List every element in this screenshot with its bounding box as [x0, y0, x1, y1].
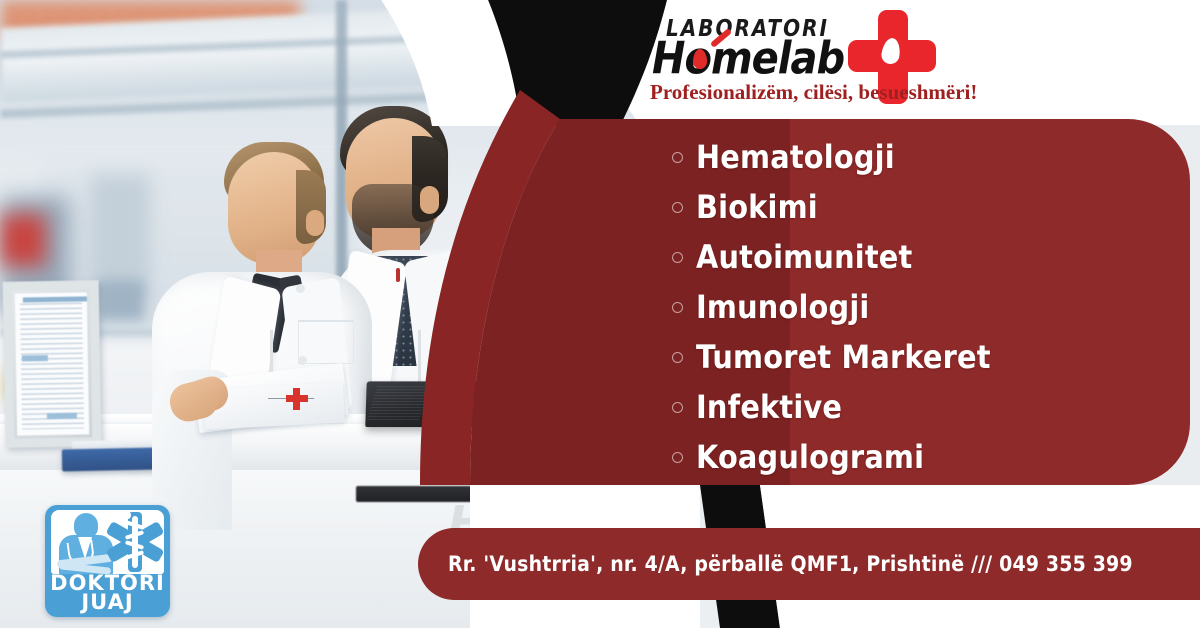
- person-a-ear: [306, 210, 324, 236]
- service-label: Hematologji: [696, 138, 895, 176]
- frame-highlight: [47, 413, 77, 420]
- list-item[interactable]: Hematologji: [672, 132, 1192, 182]
- bullet-icon: [672, 352, 683, 363]
- snake-head: [121, 511, 131, 519]
- person-b-ear: [420, 186, 439, 214]
- frame-highlight: [22, 355, 48, 361]
- document-cross-icon: [284, 388, 314, 410]
- service-label: Tumoret Markeret: [696, 338, 991, 376]
- person-a-coat-button: [296, 284, 305, 293]
- bullet-icon: [672, 402, 683, 413]
- dell-logo: DELL: [366, 391, 539, 413]
- glass-mullion: [520, 0, 529, 300]
- services-list: Hematologji Biokimi Autoimunitet Imunolo…: [672, 132, 1192, 482]
- bullet-icon: [672, 152, 683, 163]
- address-text: Rr. 'Vushtrria', nr. 4/A, përballë QMF1,…: [418, 552, 1133, 576]
- list-item[interactable]: Imunologji: [672, 282, 1192, 332]
- address-bar: Rr. 'Vushtrria', nr. 4/A, përballë QMF1,…: [418, 528, 1200, 600]
- person-a-coat-pocket: [298, 320, 354, 364]
- dell-monitor: DELL: [365, 381, 539, 427]
- star-of-life-icon: [107, 512, 163, 572]
- logo-homelab-text: Homelab: [652, 33, 844, 85]
- service-label: Imunologji: [696, 288, 869, 326]
- service-label: Autoimunitet: [696, 238, 913, 276]
- service-label: Koagulogrami: [696, 438, 924, 476]
- list-item[interactable]: Koagulogrami: [672, 432, 1192, 482]
- list-item[interactable]: Tumoret Markeret: [672, 332, 1192, 382]
- frame-inner: [15, 292, 89, 435]
- list-item[interactable]: Autoimunitet: [672, 232, 1192, 282]
- photo-red-blur: [0, 214, 46, 266]
- snake-icon: [123, 519, 147, 565]
- frame-text-rows: [20, 302, 84, 429]
- bullet-icon: [672, 302, 683, 313]
- service-label: Infektive: [696, 388, 842, 426]
- bullet-icon: [672, 452, 683, 463]
- doctor-silhouette-icon: [56, 513, 114, 574]
- photo-window-1: [98, 280, 144, 320]
- badge-image-area: [51, 510, 164, 574]
- list-item[interactable]: Biokimi: [672, 182, 1192, 232]
- framed-price-list: [3, 280, 102, 448]
- badge-title-line2: JUAJ: [45, 590, 170, 614]
- brand-tagline: Profesionalizëm, cilësi, besueshmëri!: [650, 80, 977, 105]
- bullet-icon: [672, 252, 683, 263]
- list-item[interactable]: Infektive: [672, 382, 1192, 432]
- service-label: Biokimi: [696, 188, 818, 226]
- person-b-collar-detail: [396, 268, 400, 282]
- doktori-juaj-badge[interactable]: DOKTORI JUAJ: [45, 505, 170, 617]
- bullet-icon: [672, 202, 683, 213]
- promotional-banner: DELL Homelab: [0, 0, 1200, 628]
